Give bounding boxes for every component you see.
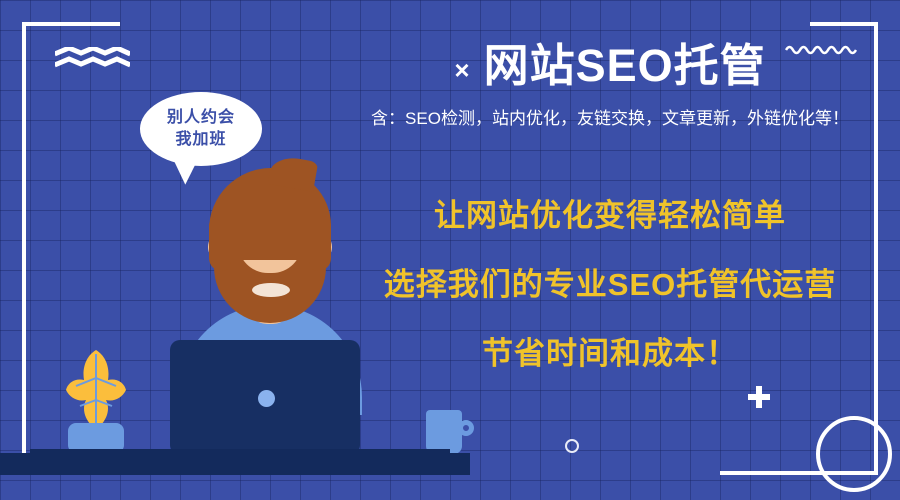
coffee-mug-icon xyxy=(426,410,462,454)
character-hair-side-right xyxy=(309,215,331,271)
circle-outline-icon xyxy=(565,439,579,453)
slogan-line-3: 节省时间和成本！ xyxy=(330,328,890,373)
character-mouth xyxy=(252,283,290,297)
plus-icon xyxy=(748,386,770,408)
slogan-block: 让网站优化变得轻松简单 选择我们的专业SEO托管代运营 节省时间和成本！ xyxy=(330,190,890,373)
desk-surface xyxy=(0,453,470,475)
page-subtitle: 含：SEO检测，站内优化，友链交换，文章更新，外链优化等！ xyxy=(330,104,890,129)
frame-gap-top xyxy=(120,16,810,32)
corner-circle-icon xyxy=(816,416,892,492)
seo-hosting-banner: × 网站SEO托管 含：SEO检测，站内优化，友链交换，文章更新，外链优化等！ … xyxy=(0,0,900,500)
speech-bubble: 别人约会 我加班 xyxy=(140,92,262,166)
potted-plant-icon xyxy=(62,348,130,434)
cross-mark-icon: × xyxy=(454,49,469,83)
headline-block: × 网站SEO托管 含：SEO检测，站内优化，友链交换，文章更新，外链优化等！ xyxy=(330,40,890,129)
slogan-line-2: 选择我们的专业SEO托管代运营 xyxy=(330,259,890,304)
character-hair-side-left xyxy=(209,215,231,271)
slogan-line-1: 让网站优化变得轻松简单 xyxy=(330,190,890,235)
speech-bubble-line-1: 别人约会 xyxy=(167,107,235,129)
page-title: 网站SEO托管 xyxy=(484,40,766,92)
laptop-logo-icon xyxy=(258,390,275,407)
speech-bubble-line-2: 我加班 xyxy=(175,129,226,151)
headline-row: × 网站SEO托管 xyxy=(330,40,890,92)
double-wave-icon xyxy=(55,47,130,69)
